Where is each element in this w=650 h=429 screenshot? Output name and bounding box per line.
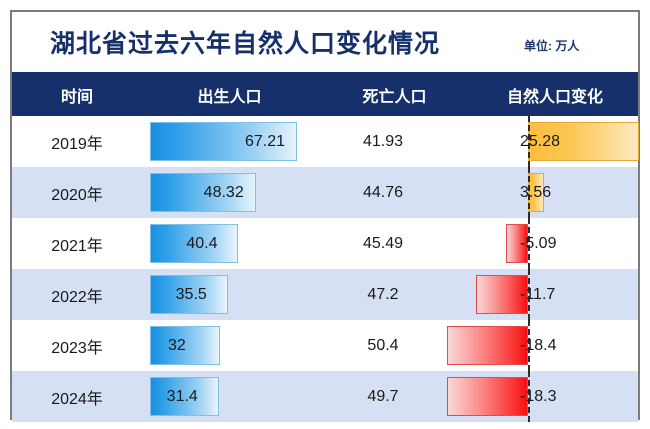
infographic-table: 湖北省过去六年自然人口变化情况 单位: 万人 时间 出生人口 死亡人口 自然人口… [0, 0, 650, 429]
cell-natural-change-value: -11.7 [520, 269, 555, 320]
table-row: 2023年3250.4-18.4 [12, 320, 638, 371]
natural-change-bar-negative [447, 326, 528, 365]
cell-natural-change-value: -18.4 [520, 320, 556, 371]
natural-change-zone: -5.09 [12, 218, 638, 269]
table-row: 2024年31.449.7-18.3 [12, 371, 638, 422]
table-card: 湖北省过去六年自然人口变化情况 单位: 万人 时间 出生人口 死亡人口 自然人口… [10, 10, 640, 420]
unit-label: 单位: 万人 [524, 37, 579, 54]
table-row: 2019年67.2141.9325.28 [12, 116, 638, 167]
table-body: 2019年67.2141.9325.282020年48.3244.763.562… [12, 116, 638, 418]
column-header-change: 自然人口变化 [472, 74, 638, 116]
cell-natural-change-value: -5.09 [520, 218, 556, 269]
cell-natural-change-value: -18.3 [520, 371, 556, 422]
column-header-time: 时间 [12, 74, 142, 116]
column-header-deaths: 死亡人口 [317, 74, 472, 116]
natural-change-bar-negative [447, 377, 528, 416]
column-header-births: 出生人口 [142, 74, 317, 116]
table-header-row: 时间 出生人口 死亡人口 自然人口变化 [12, 74, 638, 116]
natural-change-zone: 25.28 [12, 116, 638, 167]
title-band: 湖北省过去六年自然人口变化情况 单位: 万人 [12, 12, 638, 74]
natural-change-zone: -11.7 [12, 269, 638, 320]
natural-change-zone: -18.3 [12, 371, 638, 422]
table-row: 2022年35.547.2-11.7 [12, 269, 638, 320]
table-row: 2020年48.3244.763.56 [12, 167, 638, 218]
page-title: 湖北省过去六年自然人口变化情况 [50, 24, 440, 60]
natural-change-zone: 3.56 [12, 167, 638, 218]
table-row: 2021年40.445.49-5.09 [12, 218, 638, 269]
cell-natural-change-value: 25.28 [520, 116, 560, 167]
natural-change-zone: -18.4 [12, 320, 638, 371]
cell-natural-change-value: 3.56 [520, 167, 551, 218]
